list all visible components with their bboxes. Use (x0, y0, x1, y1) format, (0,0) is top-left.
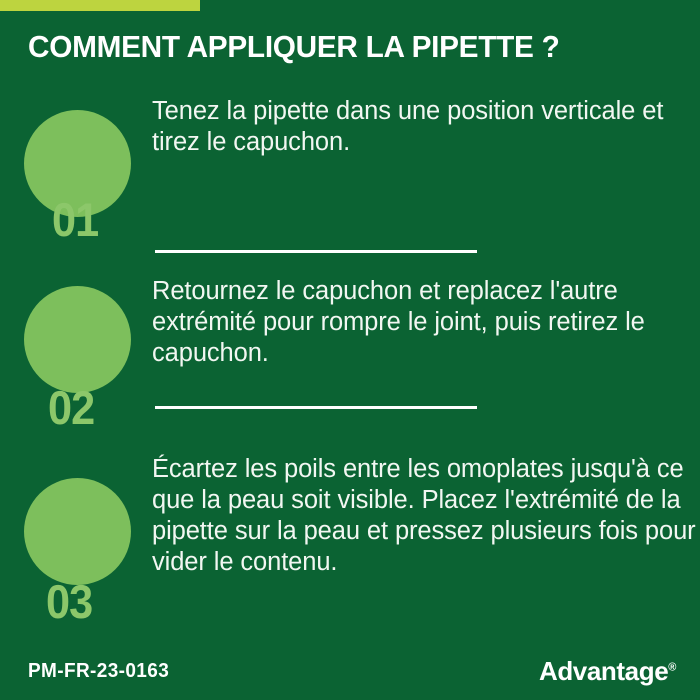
step-03-circle (24, 478, 131, 585)
step-item-03: 03 Écartez les poils entre les omoplates… (0, 428, 700, 628)
step-01-text: Tenez la pipette dans une position verti… (152, 96, 700, 158)
poster-root: COMMENT APPLIQUER LA PIPETTE ? (0, 0, 700, 700)
step-03-text-block: Écartez les poils entre les omoplates ju… (152, 450, 700, 578)
page-title: COMMENT APPLIQUER LA PIPETTE ? (28, 30, 652, 64)
footer: PM-FR-23-0163 Advantage® (0, 646, 700, 700)
steps-list: 01 Tenez la pipette dans une position ve… (0, 92, 700, 628)
step-02-circle (24, 286, 131, 393)
registered-mark: ® (668, 661, 676, 673)
step-01-number: 01 (52, 196, 98, 243)
top-accent-bar (0, 0, 200, 11)
step-item-01: 01 Tenez la pipette dans une position ve… (0, 92, 700, 252)
brand-name: Advantage (539, 656, 668, 686)
brand-logo: Advantage® (539, 656, 676, 687)
step-02-number: 02 (48, 384, 94, 431)
step-02-text-block: Retournez le capuchon et replacez l'autr… (152, 272, 700, 369)
footer-code: PM-FR-23-0163 (28, 660, 169, 683)
step-02-text: Retournez le capuchon et replacez l'autr… (152, 276, 700, 369)
step-03-number: 03 (46, 578, 92, 625)
step-03-text: Écartez les poils entre les omoplates ju… (152, 454, 700, 578)
divider-after-step-02 (155, 406, 477, 409)
step-item-02: 02 Retournez le capuchon et replacez l'a… (0, 252, 700, 428)
step-01-text-block: Tenez la pipette dans une position verti… (152, 92, 700, 158)
